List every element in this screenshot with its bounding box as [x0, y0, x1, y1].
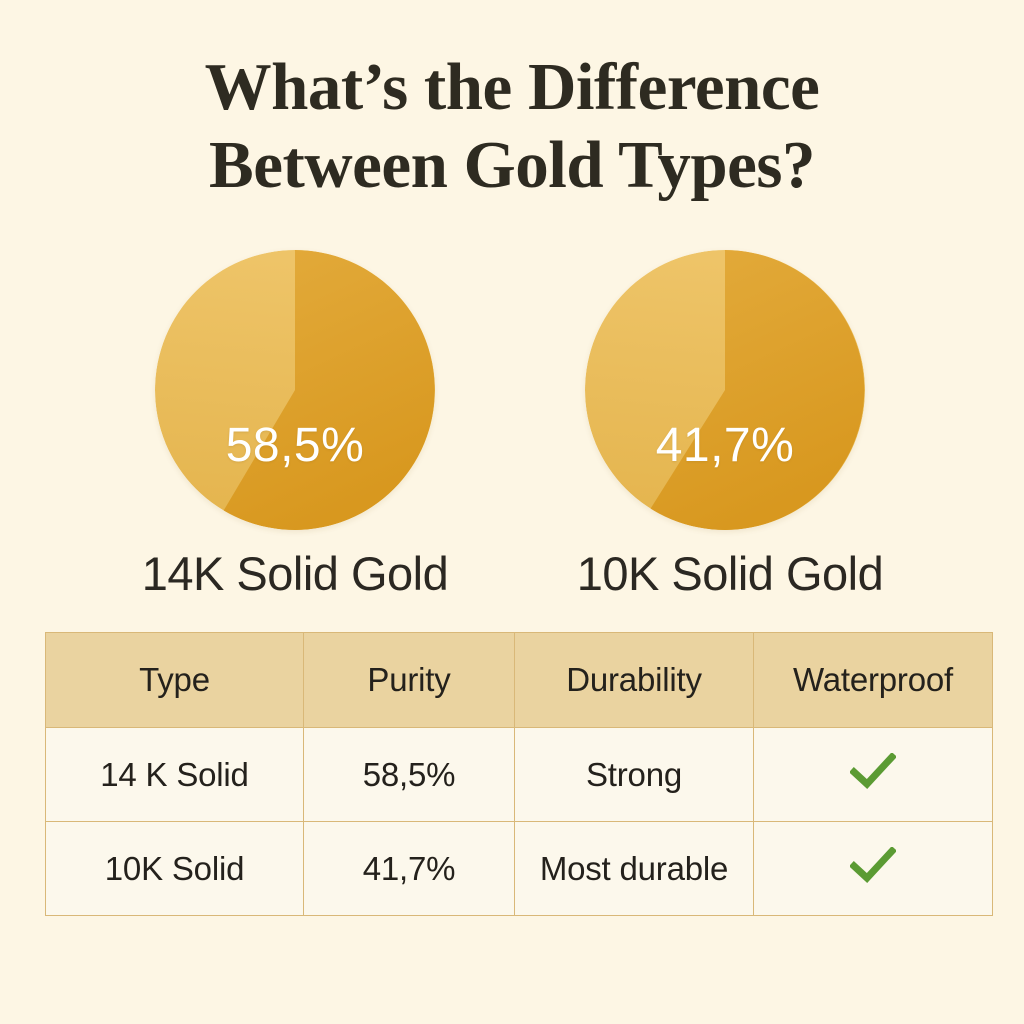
check-icon — [850, 753, 896, 789]
table-header-waterproof: Waterproof — [754, 633, 993, 728]
table-row: 10K Solid 41,7% Most durable — [46, 822, 993, 916]
table-header-purity: Purity — [304, 633, 515, 728]
cell-type-14k: 14 K Solid — [46, 728, 304, 822]
page-title: What’s the Difference Between Gold Types… — [0, 48, 1024, 204]
cell-waterproof-14k — [754, 728, 993, 822]
pie-caption-14k: 14K Solid Gold — [60, 546, 530, 601]
cell-type-10k: 10K Solid — [46, 822, 304, 916]
table-header-type: Type — [46, 633, 304, 728]
pie-10k-graphic — [585, 250, 865, 530]
cell-durability-10k: Most durable — [515, 822, 754, 916]
pie-chart-group: 58,5% 41,7% — [0, 248, 1024, 538]
pie-chart-10k: 41,7% — [580, 248, 870, 538]
pie-14k-value-label: 58,5% — [150, 418, 440, 473]
table-header-row: Type Purity Durability Waterproof — [46, 633, 993, 728]
cell-waterproof-10k — [754, 822, 993, 916]
pie-10k-value-label: 41,7% — [580, 418, 870, 473]
table-header-durability: Durability — [515, 633, 754, 728]
gold-comparison-table: Type Purity Durability Waterproof 14 K S… — [45, 632, 993, 916]
cell-purity-14k: 58,5% — [304, 728, 515, 822]
cell-durability-14k: Strong — [515, 728, 754, 822]
pie-chart-14k: 58,5% — [150, 248, 440, 538]
table-row: 14 K Solid 58,5% Strong — [46, 728, 993, 822]
pie-14k-graphic — [155, 250, 435, 530]
pie-caption-10k: 10K Solid Gold — [495, 546, 965, 601]
check-icon — [850, 847, 896, 883]
cell-purity-10k: 41,7% — [304, 822, 515, 916]
